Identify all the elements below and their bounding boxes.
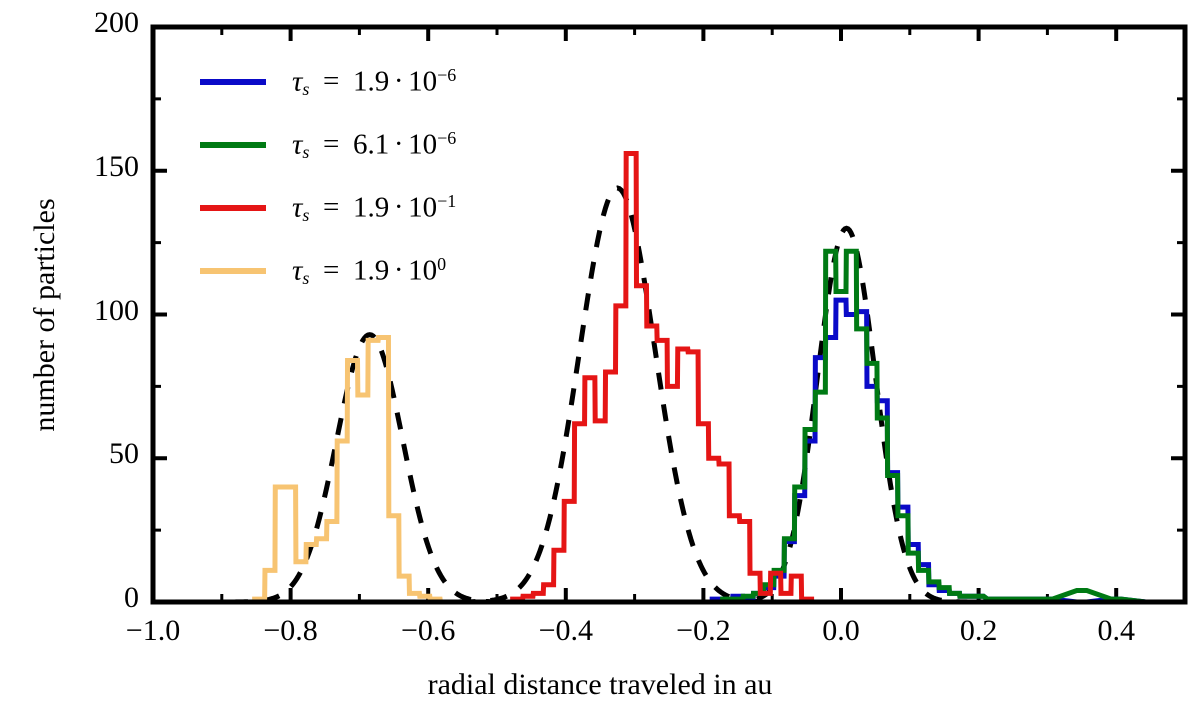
histogram-figure: radial distance traveled in au number of… xyxy=(0,0,1200,726)
power-base: 10 xyxy=(408,128,437,160)
mantissa: 1.9 xyxy=(353,191,389,223)
legend-label-2: τs = 1.9·10−1 xyxy=(292,191,456,226)
y-tick-label: 200 xyxy=(0,6,139,40)
power-exponent: −6 xyxy=(437,65,456,85)
plot-frame xyxy=(153,27,1185,602)
power-base: 10 xyxy=(408,65,437,97)
power-base: 10 xyxy=(408,254,437,286)
equals-sign: = xyxy=(309,65,353,97)
x-tick-label: −0.4 xyxy=(506,614,626,648)
gaussian-fit-red xyxy=(458,188,776,602)
x-tick-label: 0.2 xyxy=(919,614,1039,648)
histogram-series-1 xyxy=(712,251,1155,602)
histogram-series-2 xyxy=(513,154,812,603)
legend-swatch-1 xyxy=(200,142,266,148)
x-tick-label: −0.2 xyxy=(643,614,763,648)
equals-sign: = xyxy=(309,191,353,223)
x-tick-label: −0.6 xyxy=(368,614,488,648)
tau-symbol: τ xyxy=(292,65,302,97)
tau-symbol: τ xyxy=(292,128,302,160)
equals-sign: = xyxy=(309,254,353,286)
y-tick-label: 0 xyxy=(0,581,139,615)
y-tick-label: 50 xyxy=(0,437,139,471)
multiplication-dot: · xyxy=(389,65,408,97)
x-tick-label: −0.8 xyxy=(231,614,351,648)
x-tick-label: 0.4 xyxy=(1056,614,1176,648)
multiplication-dot: · xyxy=(389,254,408,286)
y-tick-label: 100 xyxy=(0,294,139,328)
power-exponent: −1 xyxy=(437,191,456,211)
legend-entry-0[interactable]: τs = 1.9·10−6 xyxy=(200,60,456,104)
power-exponent: 0 xyxy=(437,254,446,274)
y-tick-label: 150 xyxy=(0,150,139,184)
legend-label-0: τs = 1.9·10−6 xyxy=(292,65,456,100)
legend-swatch-0 xyxy=(200,79,266,85)
legend-swatch-3 xyxy=(200,268,266,274)
x-tick-label: 0.0 xyxy=(781,614,901,648)
legend-label-3: τs = 1.9·100 xyxy=(292,254,446,289)
power-base: 10 xyxy=(408,191,437,223)
multiplication-dot: · xyxy=(389,191,408,223)
mantissa: 6.1 xyxy=(353,128,389,160)
x-axis-title: radial distance traveled in au xyxy=(0,668,1200,702)
x-tick-label: −1.0 xyxy=(93,614,213,648)
mantissa: 1.9 xyxy=(353,65,389,97)
legend-label-1: τs = 6.1·10−6 xyxy=(292,128,456,163)
legend-entry-3[interactable]: τs = 1.9·100 xyxy=(200,249,446,293)
legend-swatch-2 xyxy=(200,205,266,211)
multiplication-dot: · xyxy=(389,128,408,160)
power-exponent: −6 xyxy=(437,128,456,148)
histogram-series-3 xyxy=(255,338,451,603)
equals-sign: = xyxy=(309,128,353,160)
legend-entry-1[interactable]: τs = 6.1·10−6 xyxy=(200,123,456,167)
tau-symbol: τ xyxy=(292,191,302,223)
mantissa: 1.9 xyxy=(353,254,389,286)
tau-symbol: τ xyxy=(292,254,302,286)
histogram-series-0 xyxy=(712,300,1155,602)
legend-entry-2[interactable]: τs = 1.9·10−1 xyxy=(200,186,456,230)
